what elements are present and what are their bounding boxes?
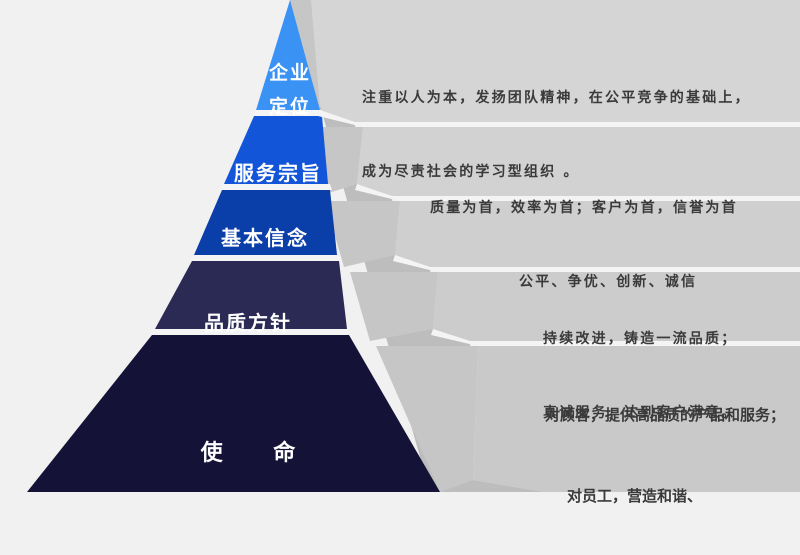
band-text-mission-line-2: 对员工，营造和谐、 (567, 483, 800, 510)
band-text-mission: 对顾客，提供高品质的产品和服务； 对员工，营造和谐、 相互尊重的工作氛围； 对商… (545, 348, 800, 555)
separator-1 (252, 110, 324, 116)
band-text-service-purpose-line-1: 质量为首，效率为首；客户为首，信誉为首 (430, 196, 738, 221)
separator-3 (190, 255, 341, 261)
separator-4 (150, 329, 351, 335)
band-text-positioning-line-1: 注重以人为本，发扬团队精神，在公平竞争的基础上， (362, 86, 751, 111)
pyramid-diagram: 企业 定位 服务宗旨 基本信念 品质方针 使 命 注重以人为本，发扬团队精神，在… (0, 0, 800, 555)
separator-2 (220, 184, 332, 190)
band-text-mission-line-1: 对顾客，提供高品质的产品和服务； (545, 402, 800, 429)
